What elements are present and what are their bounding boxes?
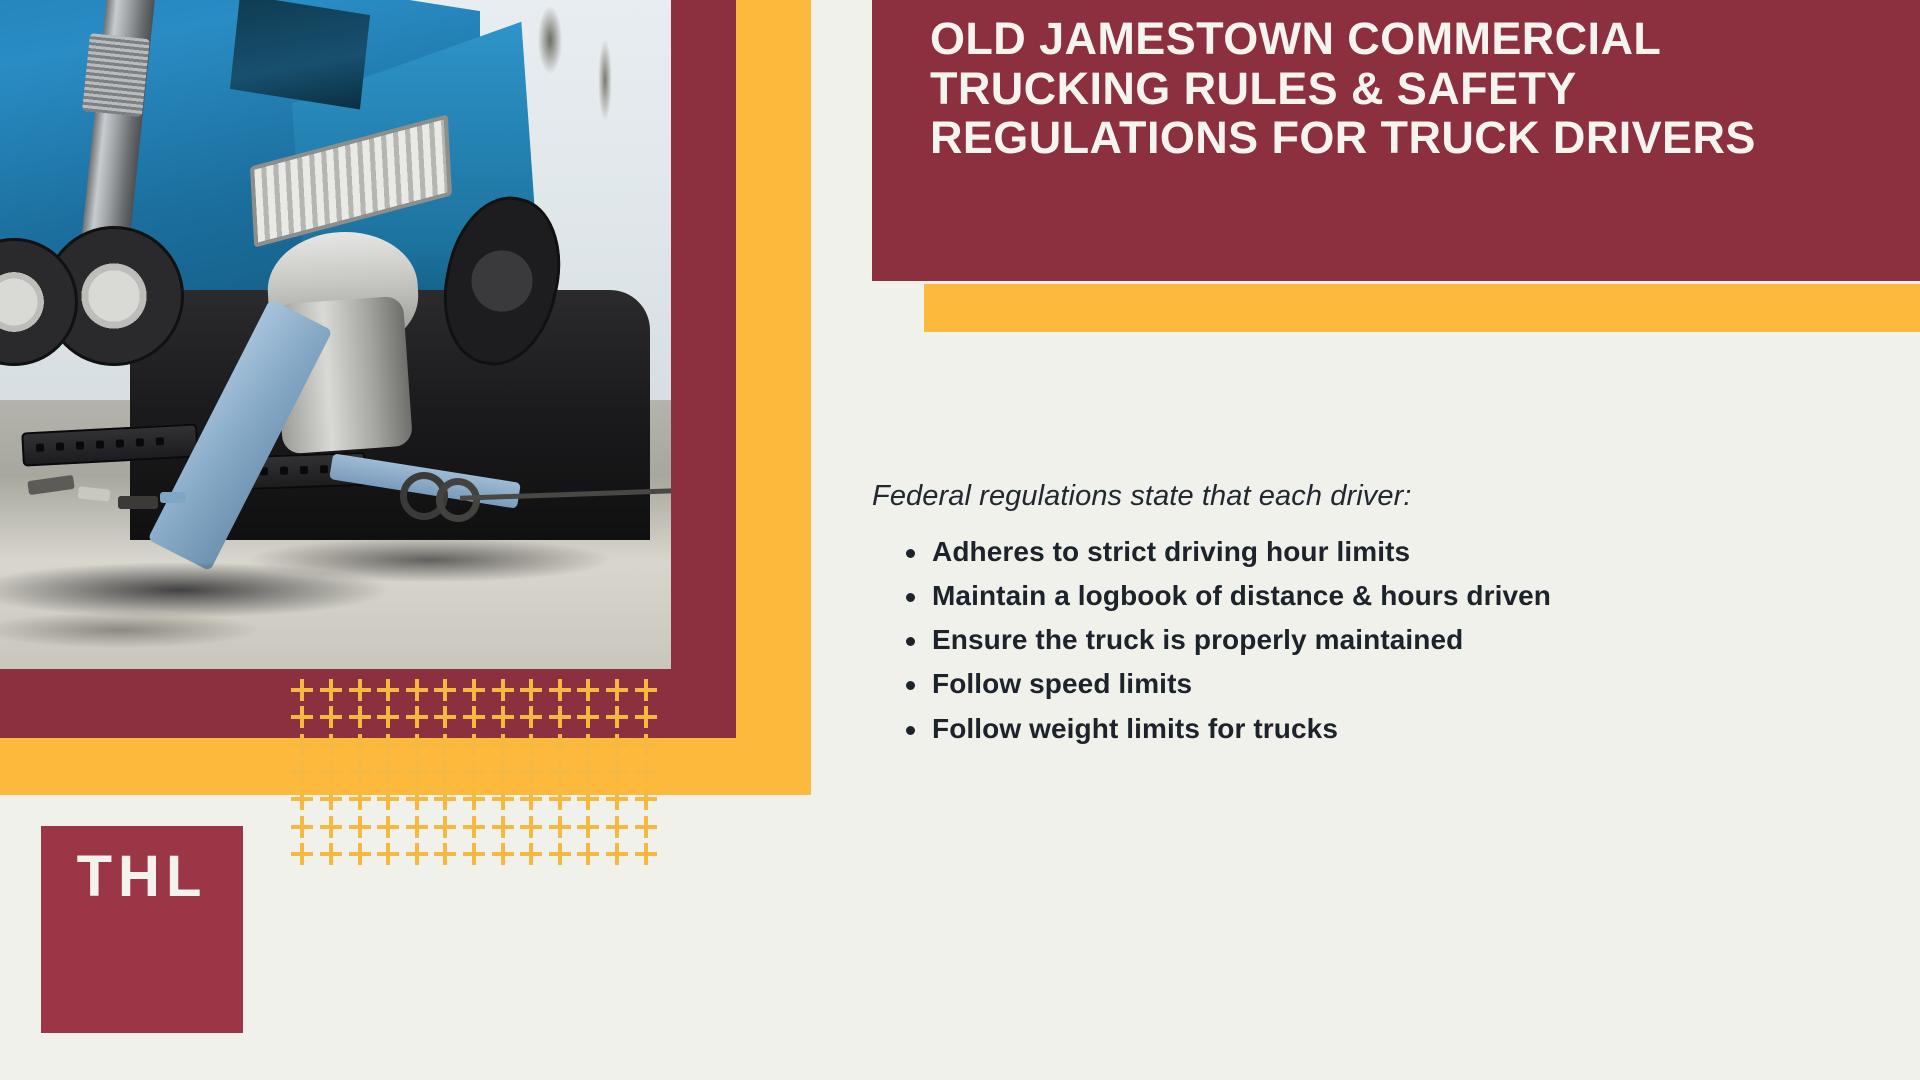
plus-icon	[291, 788, 313, 810]
plus-icon	[606, 843, 628, 865]
list-item: Maintain a logbook of distance & hours d…	[932, 574, 1872, 618]
plus-icon	[549, 761, 571, 783]
plus-icon	[492, 761, 514, 783]
regulations-list: Adheres to strict driving hour limits Ma…	[872, 530, 1872, 751]
page-title: Old Jamestown Commercial Trucking Rules …	[930, 14, 1890, 163]
plus-icon	[549, 706, 571, 728]
plus-icon	[406, 788, 428, 810]
plus-icon	[520, 679, 542, 701]
content-area: Federal regulations state that each driv…	[872, 478, 1872, 751]
plus-icon	[434, 816, 456, 838]
plus-icon	[377, 761, 399, 783]
plus-icon	[377, 788, 399, 810]
plus-icon	[520, 816, 542, 838]
plus-icon	[577, 734, 599, 756]
plus-icon	[406, 816, 428, 838]
plus-icon	[635, 734, 657, 756]
plus-icon	[492, 788, 514, 810]
plus-icon	[635, 816, 657, 838]
plus-icon	[434, 761, 456, 783]
plus-icon	[406, 734, 428, 756]
plus-icon	[463, 816, 485, 838]
plus-icon	[520, 843, 542, 865]
plus-icon	[606, 816, 628, 838]
plus-icon	[349, 761, 371, 783]
photo-debris-3	[118, 496, 158, 509]
plus-icon	[635, 843, 657, 865]
logo-text: THL	[41, 848, 243, 906]
plus-icon	[291, 761, 313, 783]
plus-icon	[577, 761, 599, 783]
plus-icon	[463, 734, 485, 756]
intro-text: Federal regulations state that each driv…	[872, 478, 1872, 516]
plus-icon	[320, 816, 342, 838]
plus-icon	[606, 706, 628, 728]
plus-icon	[520, 706, 542, 728]
plus-icon	[291, 679, 313, 701]
plus-icon	[549, 816, 571, 838]
plus-icon	[577, 706, 599, 728]
plus-icon	[606, 788, 628, 810]
plus-icon	[606, 761, 628, 783]
plus-icon	[320, 761, 342, 783]
list-item: Follow weight limits for trucks	[932, 707, 1872, 751]
plus-icon	[291, 816, 313, 838]
plus-icon	[349, 843, 371, 865]
plus-icon	[635, 679, 657, 701]
plus-icon	[377, 843, 399, 865]
plus-icon	[349, 679, 371, 701]
plus-icon	[549, 734, 571, 756]
plus-icon	[492, 843, 514, 865]
plus-icon	[291, 706, 313, 728]
plus-icon	[349, 816, 371, 838]
plus-icon	[463, 788, 485, 810]
plus-icon	[577, 679, 599, 701]
plus-icon	[577, 788, 599, 810]
plus-icon	[463, 679, 485, 701]
plus-icon	[377, 679, 399, 701]
plus-icon	[320, 843, 342, 865]
plus-icon	[606, 679, 628, 701]
list-item: Adheres to strict driving hour limits	[932, 530, 1872, 574]
plus-icon	[520, 761, 542, 783]
plus-icon	[320, 706, 342, 728]
plus-icon	[349, 734, 371, 756]
photo-exhaust-heat-shield	[82, 33, 150, 117]
plus-icon	[434, 734, 456, 756]
plus-icon	[434, 706, 456, 728]
photo-debris-4	[160, 492, 186, 503]
plus-icon	[577, 816, 599, 838]
plus-icon	[377, 816, 399, 838]
plus-icon	[320, 679, 342, 701]
plus-icon	[463, 706, 485, 728]
plus-icon	[349, 706, 371, 728]
heading-banner: Old Jamestown Commercial Trucking Rules …	[872, 0, 1920, 281]
plus-icon	[492, 734, 514, 756]
list-item: Follow speed limits	[932, 662, 1872, 706]
plus-icon	[377, 734, 399, 756]
plus-icon	[434, 679, 456, 701]
plus-icon	[549, 679, 571, 701]
plus-icon	[463, 843, 485, 865]
thl-logo: THL	[41, 826, 243, 1033]
photo-spilled-fluid	[0, 520, 671, 669]
plus-icon	[549, 843, 571, 865]
plus-icon	[406, 706, 428, 728]
plus-icon	[492, 706, 514, 728]
truck-crash-photo	[0, 0, 671, 669]
plus-icon	[434, 788, 456, 810]
plus-icon	[434, 843, 456, 865]
plus-icon	[406, 843, 428, 865]
plus-icon	[549, 788, 571, 810]
plus-icon	[406, 761, 428, 783]
plus-icon	[463, 761, 485, 783]
plus-icon	[492, 679, 514, 701]
plus-icon	[635, 761, 657, 783]
plus-icon	[320, 734, 342, 756]
plus-icon	[577, 843, 599, 865]
plus-icon	[291, 734, 313, 756]
plus-pattern-decoration	[288, 676, 660, 868]
plus-icon	[406, 679, 428, 701]
plus-icon	[635, 706, 657, 728]
list-item: Ensure the truck is properly maintained	[932, 618, 1872, 662]
plus-icon	[377, 706, 399, 728]
plus-icon	[520, 788, 542, 810]
plus-icon	[320, 788, 342, 810]
plus-icon	[520, 734, 542, 756]
plus-icon	[606, 734, 628, 756]
plus-icon	[349, 788, 371, 810]
plus-icon	[291, 843, 313, 865]
plus-icon	[635, 788, 657, 810]
plus-icon	[492, 816, 514, 838]
yellow-accent-bar	[924, 284, 1920, 332]
